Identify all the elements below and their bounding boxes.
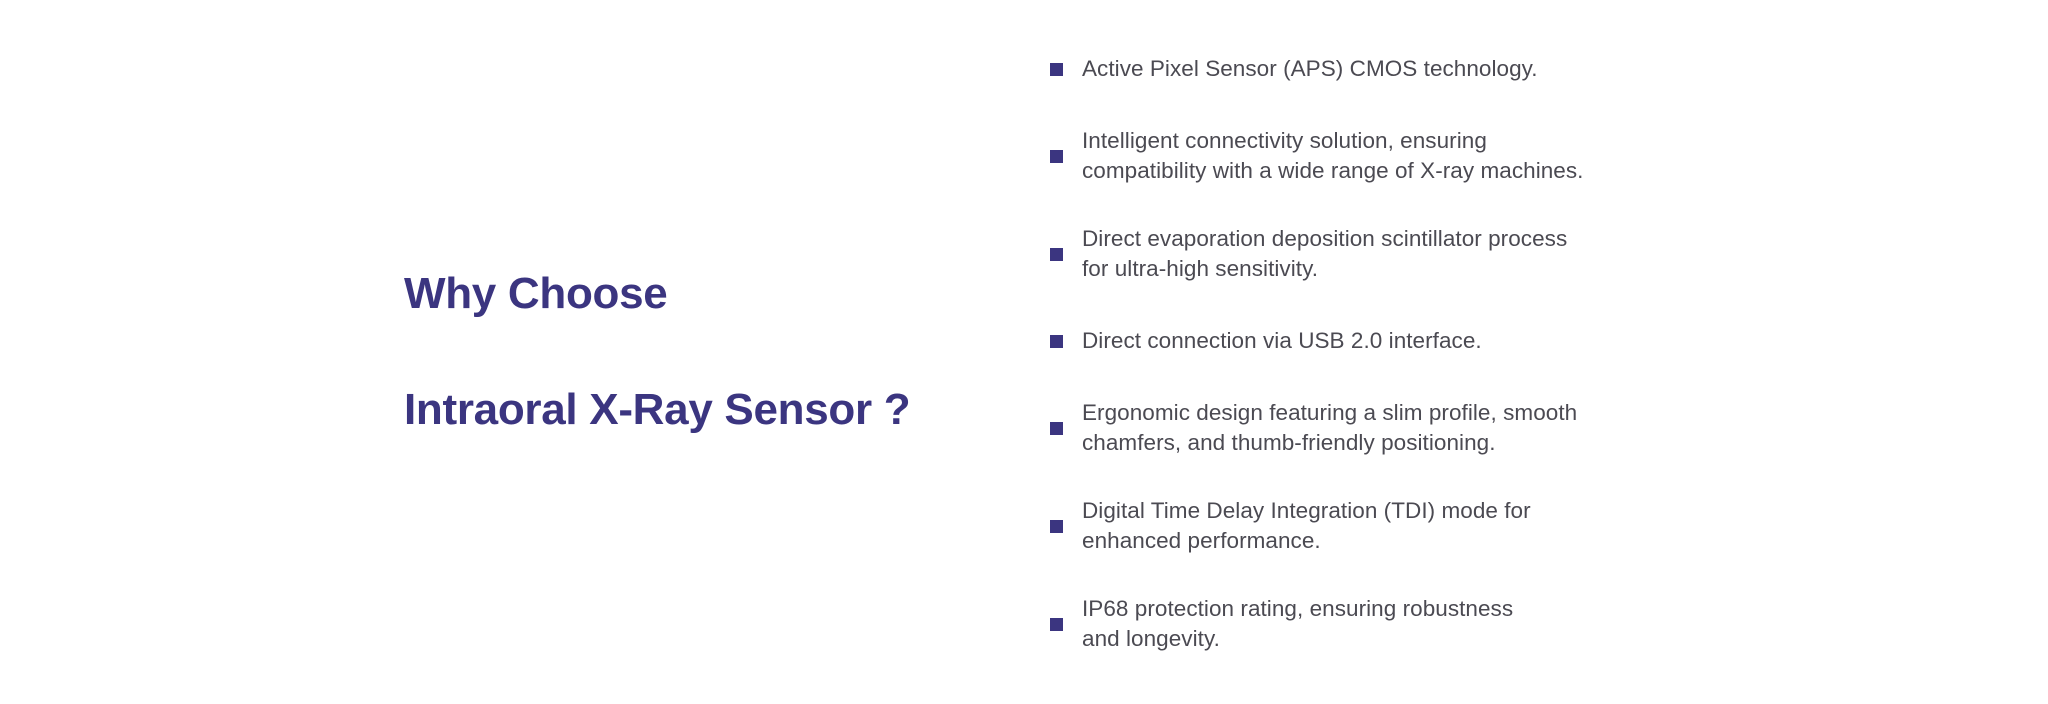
page-title: Why Choose Intraoral X-Ray Sensor ? — [404, 207, 910, 497]
feature-text: Direct evaporation deposition scintillat… — [1082, 224, 1567, 284]
square-bullet-icon — [1050, 618, 1063, 631]
list-item: Direct evaporation deposition scintillat… — [1050, 224, 2048, 284]
square-bullet-icon — [1050, 335, 1063, 348]
square-bullet-icon — [1050, 422, 1063, 435]
feature-text: Intelligent connectivity solution, ensur… — [1082, 126, 1583, 186]
feature-list: Active Pixel Sensor (APS) CMOS technolog… — [1050, 50, 2048, 654]
list-item: Digital Time Delay Integration (TDI) mod… — [1050, 496, 2048, 556]
feature-text: Direct connection via USB 2.0 interface. — [1082, 326, 1482, 356]
page-title-line-2: Intraoral X-Ray Sensor ? — [404, 381, 910, 439]
square-bullet-icon — [1050, 520, 1063, 533]
features-column: Active Pixel Sensor (APS) CMOS technolog… — [1010, 0, 2048, 704]
feature-text: IP68 protection rating, ensuring robustn… — [1082, 594, 1513, 654]
feature-text: Ergonomic design featuring a slim profil… — [1082, 398, 1577, 458]
list-item: Intelligent connectivity solution, ensur… — [1050, 126, 2048, 186]
list-item: Ergonomic design featuring a slim profil… — [1050, 398, 2048, 458]
square-bullet-icon — [1050, 248, 1063, 261]
square-bullet-icon — [1050, 63, 1063, 76]
feature-text: Active Pixel Sensor (APS) CMOS technolog… — [1082, 54, 1538, 84]
list-item: IP68 protection rating, ensuring robustn… — [1050, 594, 2048, 654]
slide-root: Why Choose Intraoral X-Ray Sensor ? Acti… — [0, 0, 2048, 704]
page-title-line-1: Why Choose — [404, 265, 910, 323]
square-bullet-icon — [1050, 150, 1063, 163]
feature-text: Digital Time Delay Integration (TDI) mod… — [1082, 496, 1531, 556]
list-item: Active Pixel Sensor (APS) CMOS technolog… — [1050, 50, 2048, 88]
heading-column: Why Choose Intraoral X-Ray Sensor ? — [0, 0, 1010, 704]
list-item: Direct connection via USB 2.0 interface. — [1050, 322, 2048, 360]
